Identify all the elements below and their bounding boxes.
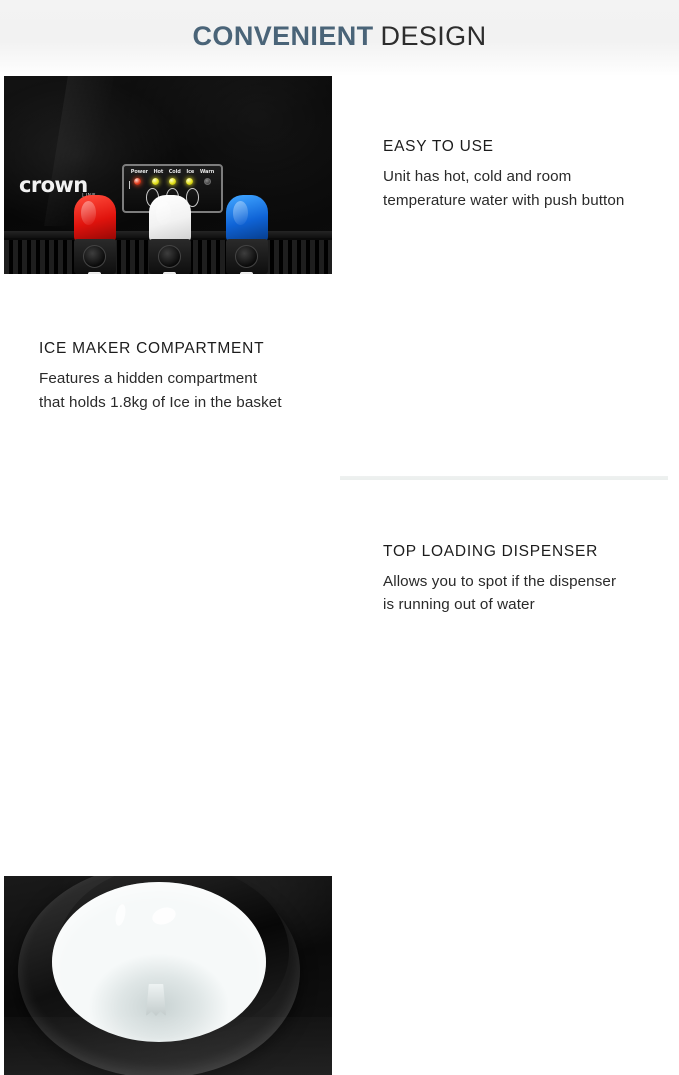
control-label-cold: Cold <box>169 169 181 175</box>
feature-top-loading: TOP LOADING DISPENSER Allows you to spot… <box>340 480 668 679</box>
page-title-strong: CONVENIENT <box>193 21 374 51</box>
ice-maker-body: Features a hidden compartment that holds… <box>39 367 320 413</box>
feature-easy-to-use: EASY TO USE Unit has hot, cold and room … <box>340 76 668 274</box>
room-tap-spout <box>163 272 176 274</box>
easy-to-use-body-line2: temperature water with push button <box>383 189 656 212</box>
switch-stem <box>129 181 130 189</box>
feature-ice-maker: ICE MAKER COMPARTMENT Features a hidden … <box>4 278 332 476</box>
hot-tap-cap <box>74 195 116 242</box>
top-loading-heading: TOP LOADING DISPENSER <box>383 543 656 561</box>
cold-tap-spout <box>240 272 253 274</box>
led-cold-icon <box>169 178 176 185</box>
bottle-probe-spike <box>146 984 166 1016</box>
room-temp-water-tap[interactable] <box>149 195 191 274</box>
cold-tap-knob[interactable] <box>235 245 258 268</box>
control-label-power: Power <box>131 169 148 175</box>
easy-to-use-body: Unit has hot, cold and room temperature … <box>383 165 656 211</box>
photo-dispenser-front: crown LINE Power Hot Cold Ice Warn <box>4 76 332 274</box>
room-tap-knob[interactable] <box>158 245 181 268</box>
control-label-hot: Hot <box>153 169 163 175</box>
top-loading-body: Allows you to spot if the dispenser is r… <box>383 570 656 616</box>
led-ice-icon <box>186 178 193 185</box>
photo-top-loading-dispenser <box>4 876 332 1075</box>
feature-grid: crown LINE Power Hot Cold Ice Warn <box>0 76 679 679</box>
led-warn-icon <box>204 178 211 185</box>
hot-water-tap[interactable] <box>74 195 116 274</box>
header-banner: CONVENIENTDESIGN <box>0 0 679 76</box>
control-panel-leds <box>124 178 221 185</box>
surface-reflection <box>4 1017 332 1075</box>
led-power-icon <box>134 178 141 185</box>
cold-water-tap[interactable] <box>226 195 268 274</box>
room-tap-cap <box>149 195 191 242</box>
ice-maker-heading: ICE MAKER COMPARTMENT <box>39 340 320 358</box>
room-tap-body <box>149 239 191 274</box>
hot-tap-knob[interactable] <box>83 245 106 268</box>
brand-logo: crown <box>19 175 88 196</box>
page-title-light: DESIGN <box>381 21 487 51</box>
cold-tap-cap <box>226 195 268 242</box>
hot-tap-spout <box>88 272 101 274</box>
top-loading-body-line1: Allows you to spot if the dispenser <box>383 570 656 593</box>
top-loading-body-line2: is running out of water <box>383 593 656 616</box>
easy-to-use-heading: EASY TO USE <box>383 138 656 156</box>
ice-maker-body-line1: Features a hidden compartment <box>39 367 320 390</box>
hot-tap-body <box>74 239 116 274</box>
ice-maker-body-line2: that holds 1.8kg of Ice in the basket <box>39 391 320 414</box>
cold-tap-body <box>226 239 268 274</box>
control-label-ice: Ice <box>186 169 194 175</box>
led-hot-icon <box>152 178 159 185</box>
control-label-warn: Warn <box>200 169 214 175</box>
easy-to-use-body-line1: Unit has hot, cold and room <box>383 165 656 188</box>
page-title: CONVENIENTDESIGN <box>193 21 487 56</box>
control-panel-labels: Power Hot Cold Ice Warn <box>124 169 221 175</box>
